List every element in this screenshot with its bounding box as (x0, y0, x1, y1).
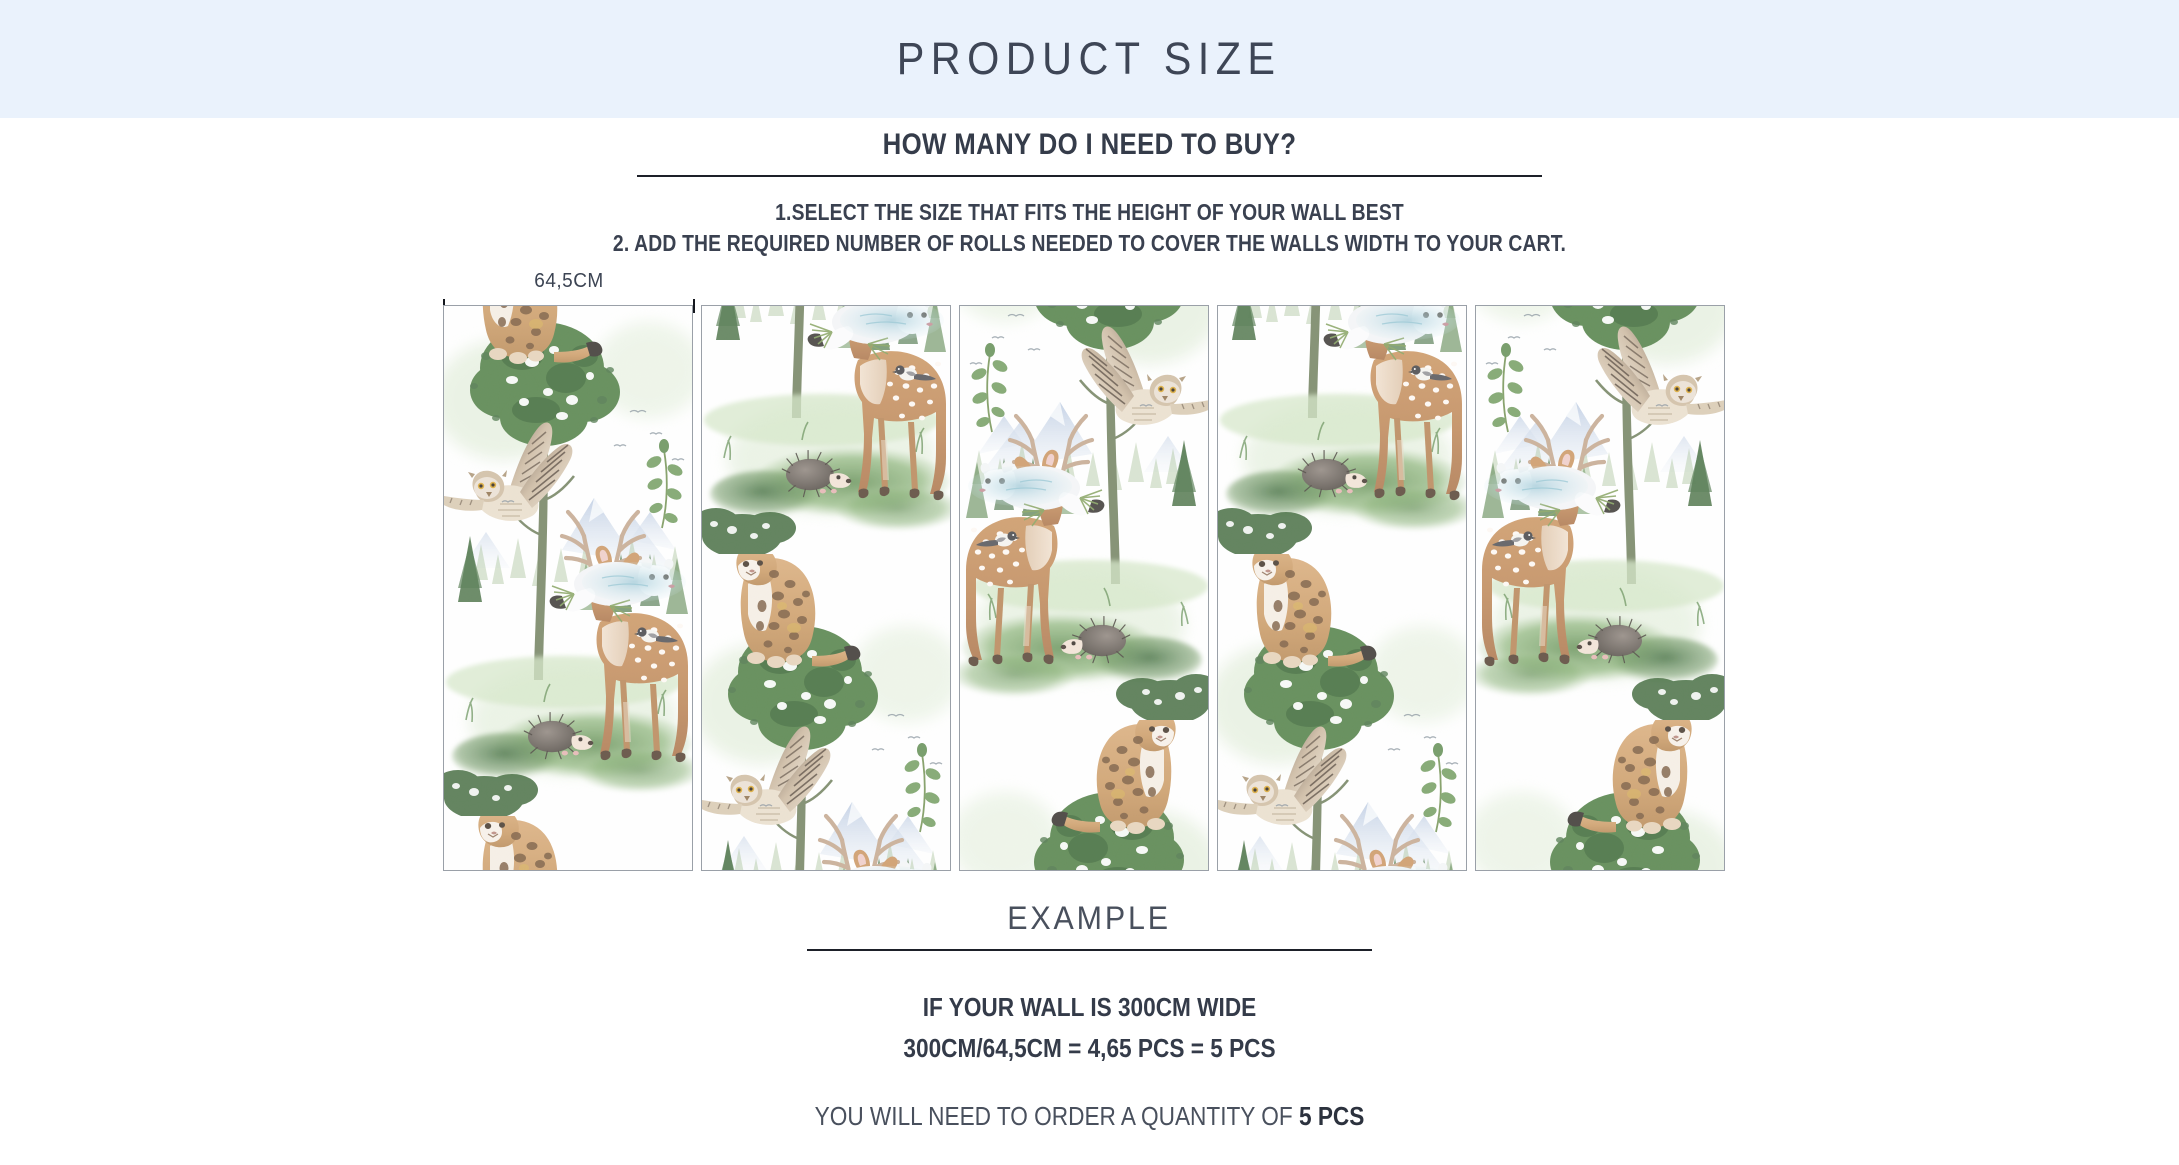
page-title: PRODUCT SIZE (897, 33, 1282, 85)
panel-3-artwork (960, 305, 1209, 871)
example-final-value: 5 PCS (1299, 1101, 1364, 1131)
intro-steps: 1.SELECT THE SIZE THAT FITS THE HEIGHT O… (0, 197, 2179, 259)
wallpaper-panel-2[interactable] (701, 305, 951, 871)
panel-1-artwork (444, 305, 693, 871)
panel-2-artwork (702, 305, 951, 871)
example-final-prefix: YOU WILL NEED TO ORDER A QUANTITY OF (815, 1101, 1299, 1131)
example-section: EXAMPLE IF YOUR WALL IS 300CM WIDE 300CM… (0, 900, 2179, 1132)
example-heading: EXAMPLE (1008, 900, 1172, 937)
example-heading-wrap: EXAMPLE (0, 900, 2179, 937)
example-final-line: YOU WILL NEED TO ORDER A QUANTITY OF 5 P… (142, 1101, 2038, 1132)
intro-section: HOW MANY DO I NEED TO BUY? 1.SELECT THE … (0, 128, 2179, 259)
intro-step-1: 1.SELECT THE SIZE THAT FITS THE HEIGHT O… (174, 197, 2004, 228)
wallpaper-panel-5[interactable] (1475, 305, 1725, 871)
wallpaper-panel-4[interactable] (1217, 305, 1467, 871)
example-body: IF YOUR WALL IS 300CM WIDE 300CM/64,5CM … (0, 987, 2179, 1132)
panel-4-artwork (1218, 305, 1467, 871)
intro-heading: HOW MANY DO I NEED TO BUY? (883, 128, 1297, 162)
intro-step-2: 2. ADD THE REQUIRED NUMBER OF ROLLS NEED… (174, 228, 2004, 259)
intro-heading-wrap: HOW MANY DO I NEED TO BUY? (0, 128, 2179, 162)
roll-width-label: 64,5CM (449, 270, 688, 293)
wallpaper-panel-1[interactable] (443, 305, 693, 871)
example-divider (807, 949, 1372, 951)
page-header: PRODUCT SIZE (0, 0, 2179, 118)
example-line-2: 300CM/64,5CM = 4,65 PCS = 5 PCS (142, 1028, 2038, 1069)
wallpaper-panel-strip (443, 305, 1733, 871)
wallpaper-panel-3[interactable] (959, 305, 1209, 871)
panel-5-artwork (1476, 305, 1725, 871)
intro-divider (637, 175, 1542, 177)
example-line-1: IF YOUR WALL IS 300CM WIDE (142, 987, 2038, 1028)
